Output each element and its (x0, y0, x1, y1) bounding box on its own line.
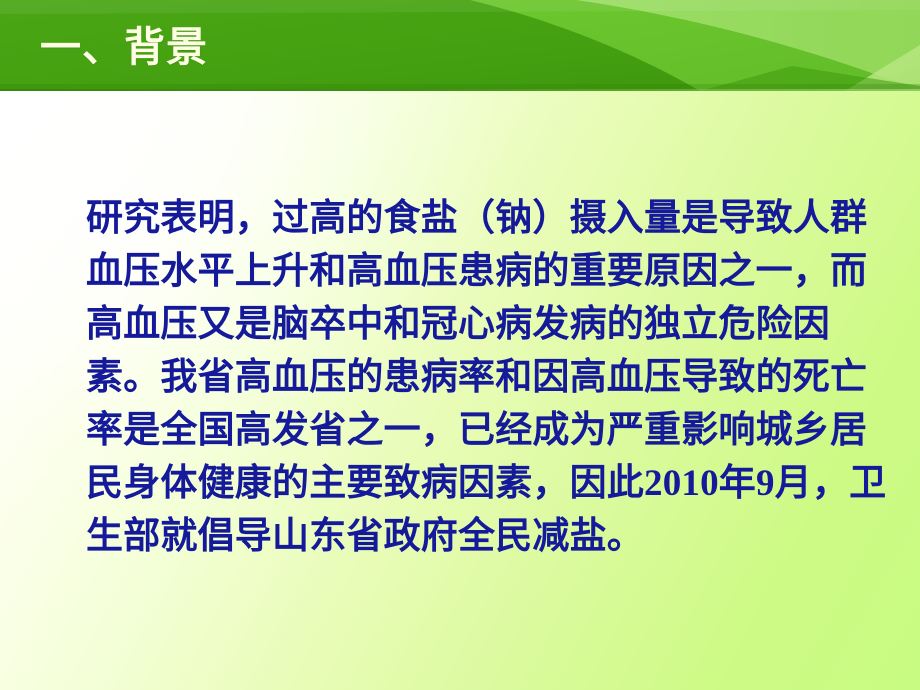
presentation-slide: 一、背景 研究表明，过高的食盐（钠）摄入量是导致人群血压水平上升和高血压患病的重… (0, 0, 920, 690)
page-title: 一、背景 (40, 19, 208, 75)
slide-header-banner: 一、背景 (0, 0, 920, 91)
body-paragraph: 研究表明，过高的食盐（钠）摄入量是导致人群血压水平上升和高血压患病的重要原因之一… (86, 192, 898, 563)
